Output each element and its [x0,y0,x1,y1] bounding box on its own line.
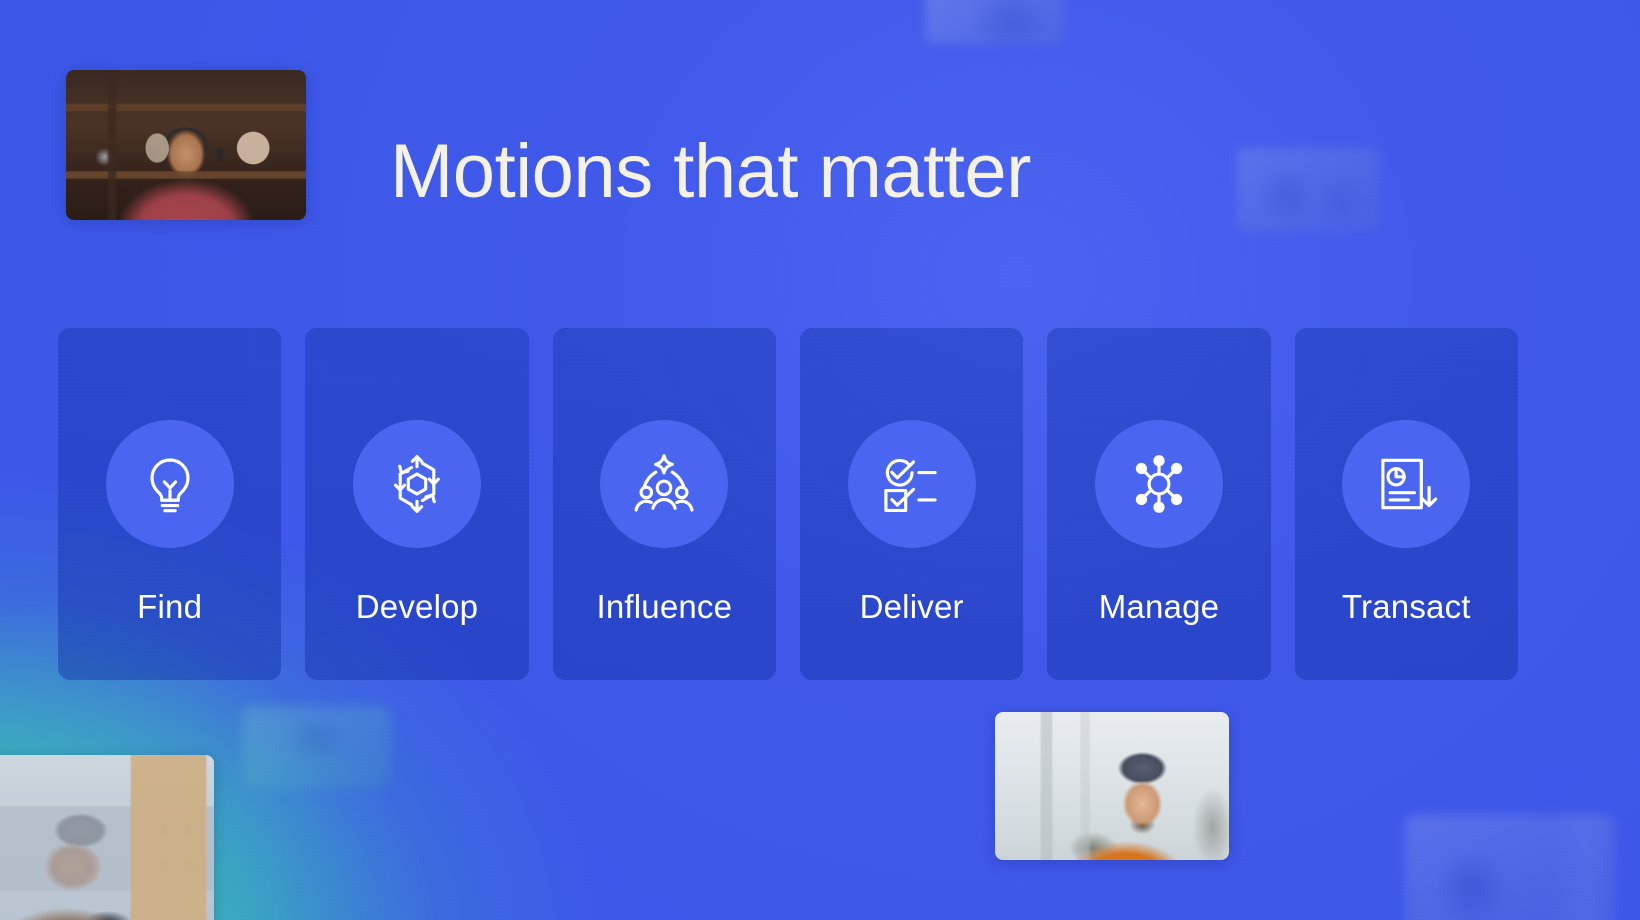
icon-circle-develop [353,420,481,548]
card-label-manage: Manage [1099,590,1219,623]
card-find[interactable]: Find [58,328,281,680]
page-title: Motions that matter [390,128,1190,215]
card-develop[interactable]: Develop [305,328,528,680]
document-download-icon [1370,448,1442,520]
card-label-deliver: Deliver [860,590,964,623]
ghost-thumbnail-top [925,0,1065,44]
slide-canvas: Motions that matter Find [0,0,1640,920]
ghost-thumbnail-teal [243,706,391,788]
card-label-transact: Transact [1342,590,1471,623]
ghost-thumbnail-right [1236,148,1380,232]
people-sparkle-icon [628,448,700,520]
motions-card-row: Find [58,328,1518,680]
man-with-beanie-photo [995,712,1229,860]
icon-circle-deliver [848,420,976,548]
man-with-headphones-photo [66,70,306,220]
checklist-icon [876,448,948,520]
card-deliver[interactable]: Deliver [800,328,1023,680]
card-label-develop: Develop [356,590,478,623]
icon-circle-find [106,420,234,548]
icon-circle-manage [1095,420,1223,548]
icon-circle-transact [1342,420,1470,548]
icon-circle-influence [600,420,728,548]
card-label-influence: Influence [596,590,732,623]
ghost-thumbnail-bottom [1405,815,1615,920]
card-label-find: Find [137,590,202,623]
card-transact[interactable]: Transact [1295,328,1518,680]
card-influence[interactable]: Influence [553,328,776,680]
card-manage[interactable]: Manage [1047,328,1270,680]
woman-cyclist-phone-photo [0,755,214,920]
network-hub-icon [1123,448,1195,520]
lightbulb-icon [134,448,206,520]
hexagon-cycle-icon [381,448,453,520]
